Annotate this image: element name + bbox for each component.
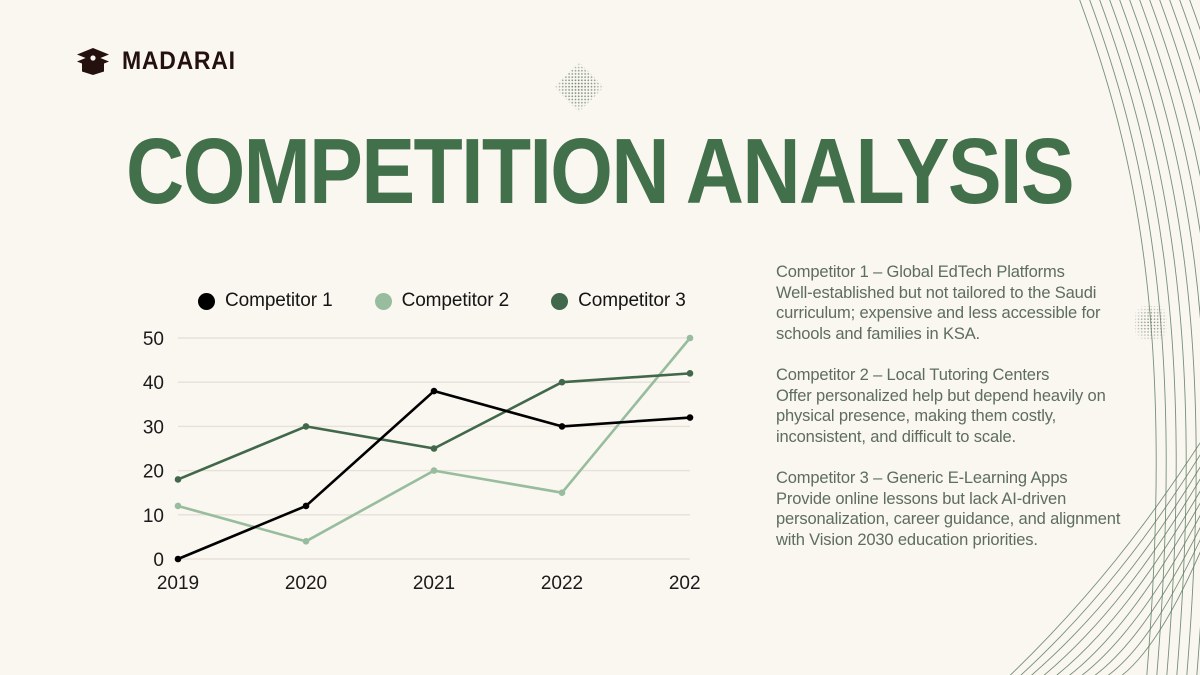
x-axis-tick: 2023	[669, 573, 700, 594]
note-heading-2: Competitor 2 – Local Tutoring Centers	[776, 365, 1140, 386]
x-axis-tick: 2020	[285, 573, 327, 594]
note-competitor-2: Competitor 2 – Local Tutoring Centers Of…	[776, 365, 1140, 447]
note-competitor-3: Competitor 3 – Generic E-Learning Apps P…	[776, 468, 1140, 550]
note-body-1: Well-established but not tailored to the…	[776, 283, 1140, 345]
page-title: COMPETITION ANALYSIS	[126, 126, 1073, 219]
legend-item-competitor-3[interactable]: Competitor 3	[551, 290, 686, 312]
legend-label-competitor-3: Competitor 3	[578, 290, 686, 312]
x-axis-tick: 2021	[413, 573, 455, 594]
note-body-3: Provide online lessons but lack AI-drive…	[776, 489, 1140, 551]
brand-logo: MADARAI	[76, 46, 246, 76]
y-axis-tick: 20	[143, 462, 164, 483]
chart-data-point	[687, 370, 694, 377]
chart-svg: 0102030405020192020202120222023	[130, 326, 700, 601]
chart-data-point	[303, 503, 310, 510]
slide-canvas: MADARAI COMPETITION ANALYSIS Competitor …	[0, 0, 1200, 675]
chart-data-point	[431, 467, 438, 474]
chart-data-point	[175, 503, 182, 510]
x-axis-tick: 2022	[541, 573, 583, 594]
chart-data-point	[687, 414, 694, 421]
y-axis-tick: 50	[143, 329, 164, 350]
legend-dot-competitor-3	[551, 293, 568, 310]
chart-line-competitor-2	[178, 338, 690, 541]
dotted-diamond-ornament	[552, 60, 606, 114]
chart-data-point	[175, 556, 182, 563]
chart-data-point	[559, 489, 566, 496]
y-axis-tick: 40	[143, 373, 164, 394]
legend-item-competitor-2[interactable]: Competitor 2	[375, 290, 510, 312]
legend-dot-competitor-1	[198, 293, 215, 310]
chart-line-competitor-1	[178, 391, 690, 559]
legend-label-competitor-2: Competitor 2	[402, 290, 510, 312]
chart-data-point	[303, 538, 310, 545]
brand-name: MADARAI	[122, 49, 236, 74]
legend-label-competitor-1: Competitor 1	[225, 290, 333, 312]
y-axis-tick: 10	[143, 506, 164, 527]
competitor-notes: Competitor 1 – Global EdTech Platforms W…	[776, 262, 1140, 550]
chart-data-point	[303, 423, 310, 430]
legend-item-competitor-1[interactable]: Competitor 1	[198, 290, 333, 312]
note-competitor-1: Competitor 1 – Global EdTech Platforms W…	[776, 262, 1140, 344]
chart-data-point	[175, 476, 182, 483]
chart-plot-area: 0102030405020192020202120222023	[130, 326, 700, 601]
y-axis-tick: 0	[153, 550, 164, 571]
note-heading-3: Competitor 3 – Generic E-Learning Apps	[776, 468, 1140, 489]
graduation-cap-icon	[76, 46, 110, 76]
chart-data-point	[687, 335, 694, 342]
chart-data-point	[559, 379, 566, 386]
chart-data-point	[431, 388, 438, 395]
chart-data-point	[431, 445, 438, 452]
chart-legend: Competitor 1 Competitor 2 Competitor 3	[198, 290, 728, 312]
note-body-2: Offer personalized help but depend heavi…	[776, 386, 1140, 448]
x-axis-tick: 2019	[157, 573, 199, 594]
y-axis-tick: 30	[143, 417, 164, 438]
chart-data-point	[559, 423, 566, 430]
competition-chart: Competitor 1 Competitor 2 Competitor 3 0…	[130, 290, 728, 601]
legend-dot-competitor-2	[375, 293, 392, 310]
note-heading-1: Competitor 1 – Global EdTech Platforms	[776, 262, 1140, 283]
